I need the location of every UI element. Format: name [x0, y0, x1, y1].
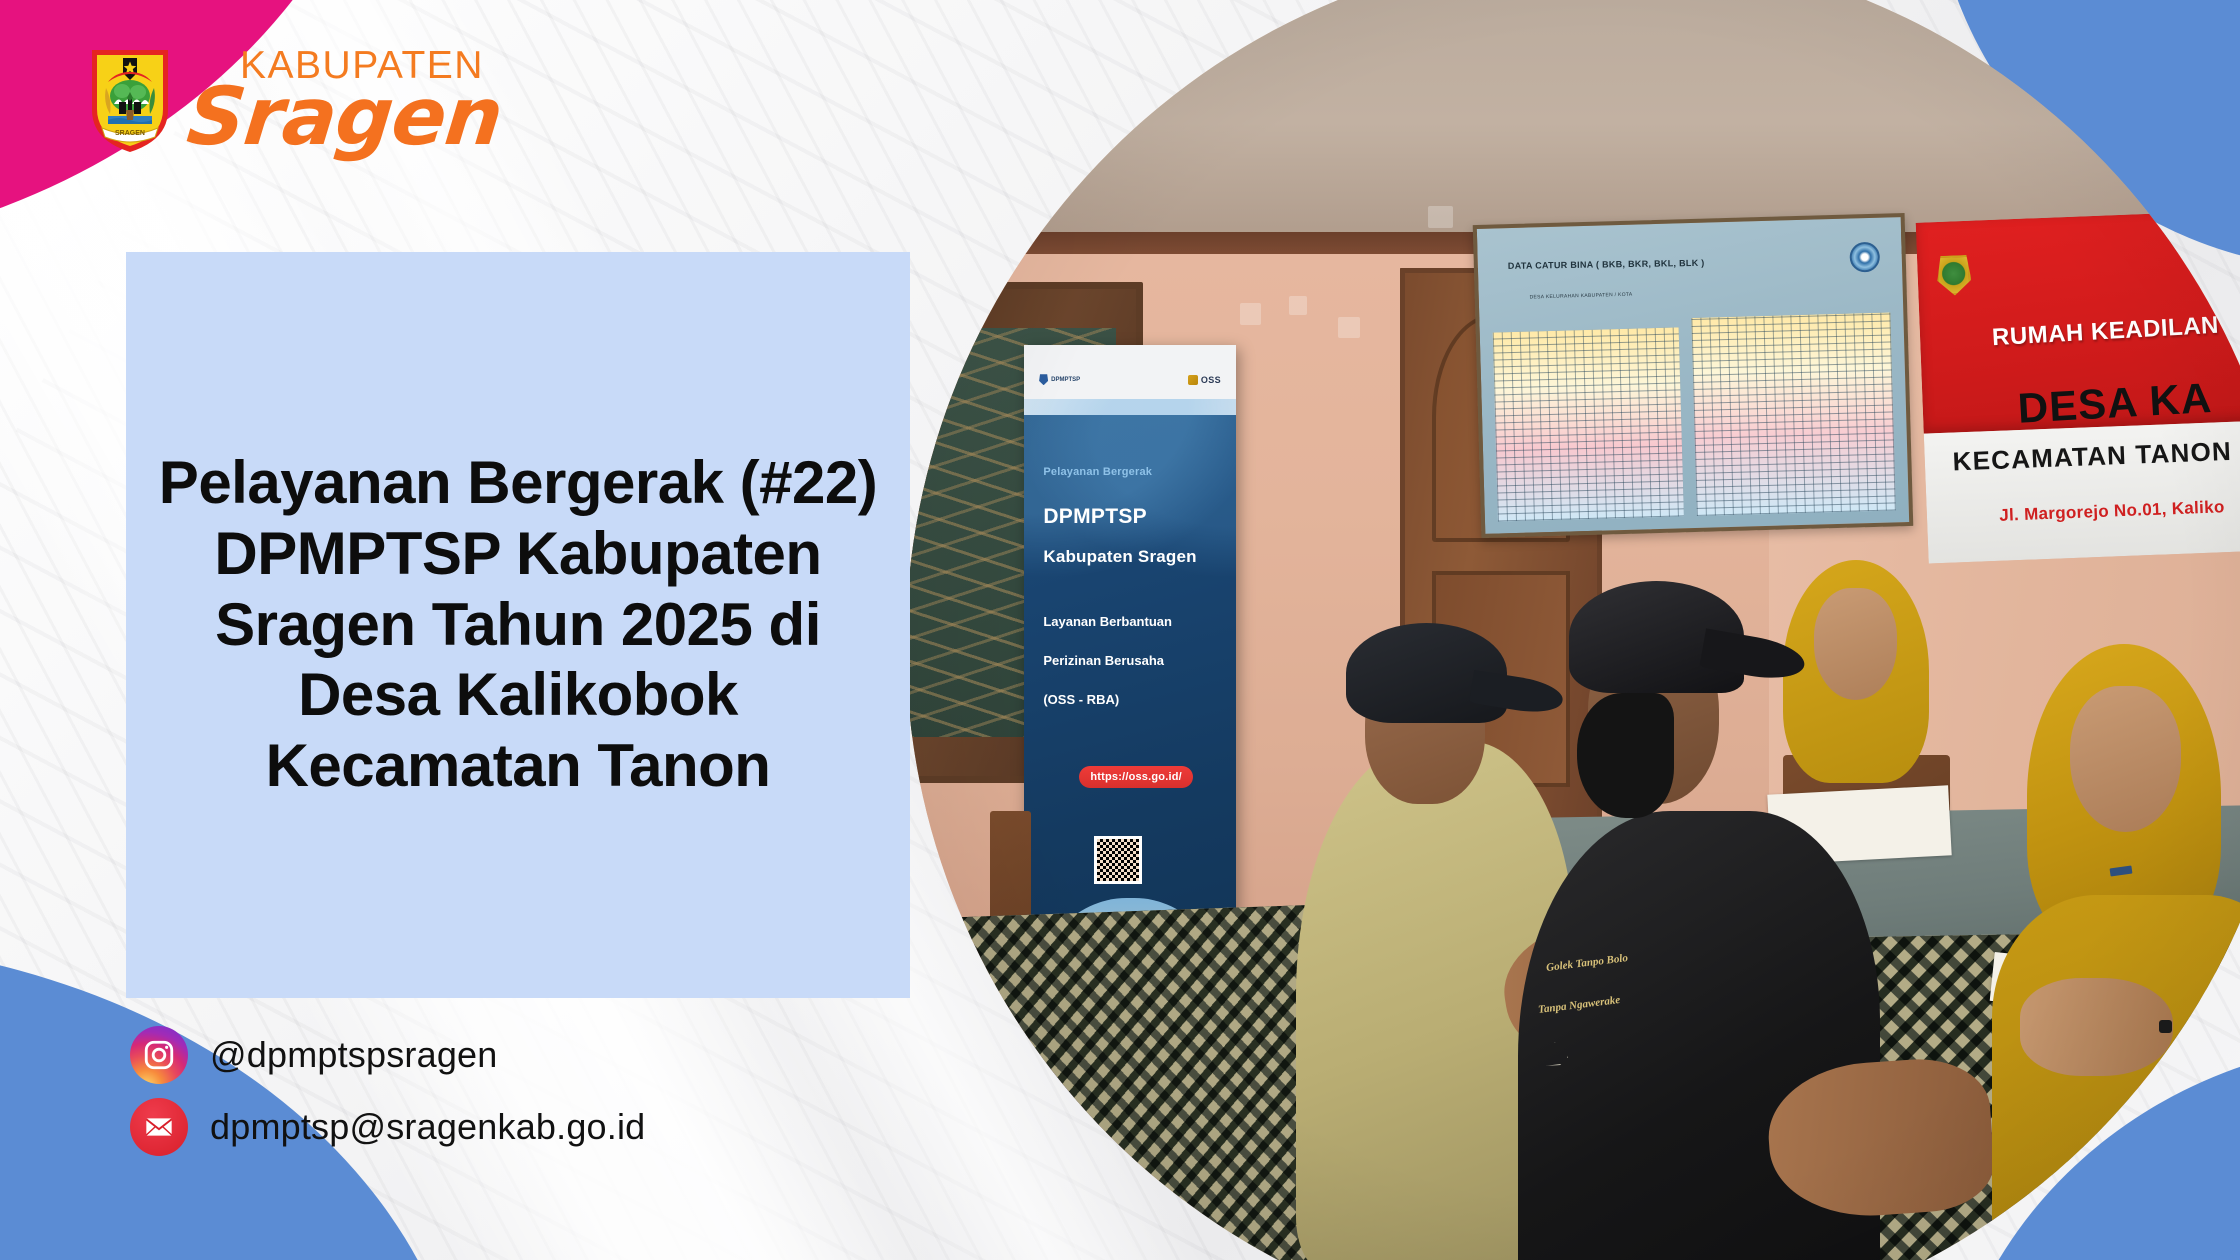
rollup-sub-line1: Layanan Berbantuan: [1043, 614, 1172, 629]
event-photo-circle: DATA CATUR BINA ( BKB, BKR, BKL, BLK ) D…: [906, 0, 2240, 1260]
staff-woman-hand: [2020, 978, 2173, 1075]
shield-icon: [1039, 374, 1048, 385]
brand-lockup: SRAGEN KABUPATEN Sragen: [86, 42, 502, 157]
rollup-org-badge: DPMPTSP: [1039, 374, 1080, 385]
svg-text:SRAGEN: SRAGEN: [115, 130, 145, 137]
rollup-sub-line2: Perizinan Berusaha: [1043, 653, 1164, 668]
page-title: Pelayanan Bergerak (#22) DPMPTSP Kabupat…: [158, 448, 878, 802]
instagram-handle: @dpmptspsragen: [210, 1034, 498, 1076]
wall-patch: [1289, 296, 1307, 315]
contact-row-email[interactable]: dpmptsp@sragenkab.go.id: [130, 1098, 645, 1156]
wall-patch: [1240, 303, 1261, 325]
wristwatch-icon: [2159, 1020, 2172, 1033]
rollup-sub-line3: (OSS - RBA): [1043, 692, 1119, 707]
rollup-oss-badge: OSS: [1188, 375, 1221, 385]
red-banner: RUMAH KEADILAN RE DESA KA KECAMATAN TANO…: [1916, 202, 2240, 564]
brand-sragen-label: Sragen: [184, 77, 506, 157]
red-banner-bottom: [1924, 413, 2240, 564]
rollup-oss-label: OSS: [1201, 375, 1221, 385]
rollup-org-name: DPMPTSP: [1051, 377, 1080, 383]
sragen-coat-of-arms-icon: SRAGEN: [86, 44, 174, 156]
rollup-title-line1: DPMPTSP: [1043, 505, 1147, 529]
contact-row-instagram[interactable]: @dpmptspsragen: [130, 1026, 645, 1084]
ceiling: [906, 0, 2240, 240]
rollup-pretitle: Pelayanan Bergerak: [1043, 466, 1152, 478]
rollup-url-pill: https://oss.go.id/: [1079, 766, 1193, 788]
wall-chart-table-right: [1691, 312, 1896, 516]
title-card: Pelayanan Bergerak (#22) DPMPTSP Kabupat…: [126, 252, 910, 998]
wall-patch: [1428, 206, 1453, 228]
oss-mark-icon: [1188, 375, 1198, 385]
wall-chart-seal-icon: [1849, 243, 1880, 274]
staff-woman-body: [1992, 895, 2240, 1257]
wall-chart-subtitle: DESA KELURAHAN KABUPATEN / KOTA: [1529, 292, 1632, 301]
email-address: dpmptsp@sragenkab.go.id: [210, 1106, 645, 1148]
wall-patch: [1338, 317, 1360, 338]
staff-woman-face: [2070, 686, 2181, 832]
officer-man-hair: [1577, 693, 1674, 818]
qr-code-icon: [1094, 836, 1142, 884]
wall-chart-title: DATA CATUR BINA ( BKB, BKR, BKL, BLK ): [1507, 258, 1704, 271]
brand-wordmark: KABUPATEN Sragen: [188, 42, 502, 157]
rollup-title-line2: Kabupaten Sragen: [1043, 547, 1196, 567]
wall-chart-data-catur-bina: DATA CATUR BINA ( BKB, BKR, BKL, BLK ) D…: [1472, 213, 1912, 538]
staff-woman-back-face: [1814, 588, 1898, 699]
email-icon: [130, 1098, 188, 1156]
instagram-icon: [130, 1026, 188, 1084]
rollup-wave-graphic: [1024, 399, 1236, 602]
contact-list: @dpmptspsragen dpmptsp@sragenkab.go.id: [130, 1026, 645, 1156]
wall-chart-table-left: [1492, 328, 1684, 522]
event-photo: DATA CATUR BINA ( BKB, BKR, BKL, BLK ) D…: [906, 0, 2240, 1260]
